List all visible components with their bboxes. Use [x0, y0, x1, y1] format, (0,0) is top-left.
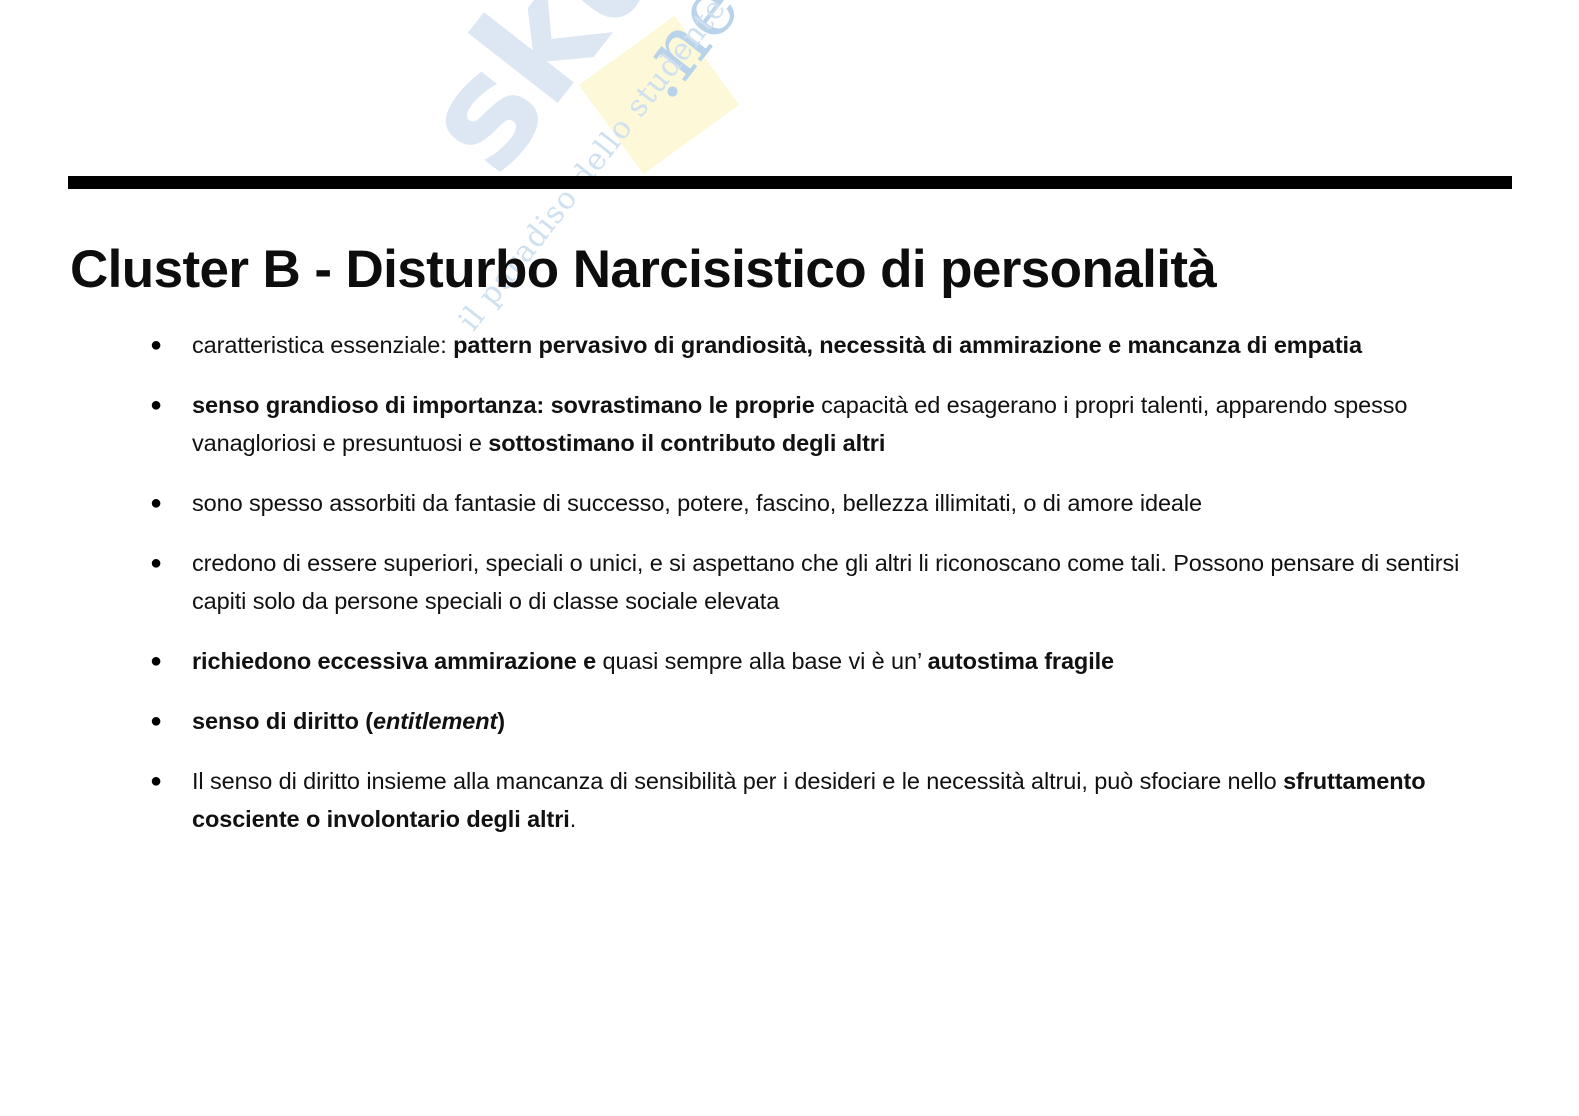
list-item: ●Il senso di diritto insieme alla mancan… [146, 762, 1512, 838]
bullet-point-icon: ● [146, 544, 192, 582]
list-item: ●richiedono eccessiva ammirazione e quas… [146, 642, 1512, 680]
bullet-point-icon: ● [146, 484, 192, 522]
bullet-point-icon: ● [146, 326, 192, 364]
list-item: ●senso grandioso di importanza: sovrasti… [146, 386, 1512, 462]
list-item-text-senso-grandioso-di-importanza: senso grandioso di importanza: sovrastim… [192, 386, 1512, 462]
bullet-list: ●caratteristica essenziale: pattern perv… [146, 326, 1512, 838]
list-item: ●caratteristica essenziale: pattern perv… [146, 326, 1512, 364]
list-item: ●senso di diritto (entitlement) [146, 702, 1512, 740]
list-item-text-senso-di-diritto: senso di diritto (entitlement) [192, 702, 1512, 740]
bullet-point-icon: ● [146, 702, 192, 740]
list-item-text-richiedono-eccessiva-ammirazione: richiedono eccessiva ammirazione e quasi… [192, 642, 1512, 680]
list-item-text-sfruttamento-degli-altri: Il senso di diritto insieme alla mancanz… [192, 762, 1512, 838]
page-title: Cluster B - Disturbo Narcisistico di per… [70, 240, 1530, 299]
slide-content: Cluster B - Disturbo Narcisistico di per… [0, 0, 1579, 1116]
bullet-point-icon: ● [146, 386, 192, 424]
title-divider-rule [68, 176, 1512, 189]
list-item-text-fantasie-illimitate: sono spesso assorbiti da fantasie di suc… [192, 484, 1512, 522]
list-item-text-credono-di-essere-superiori: credono di essere superiori, speciali o … [192, 544, 1512, 620]
bullet-point-icon: ● [146, 642, 192, 680]
list-item: ●sono spesso assorbiti da fantasie di su… [146, 484, 1512, 522]
list-item-text-caratteristica-essenziale: caratteristica essenziale: pattern perva… [192, 326, 1512, 364]
bullet-point-icon: ● [146, 762, 192, 800]
list-item: ●credono di essere superiori, speciali o… [146, 544, 1512, 620]
